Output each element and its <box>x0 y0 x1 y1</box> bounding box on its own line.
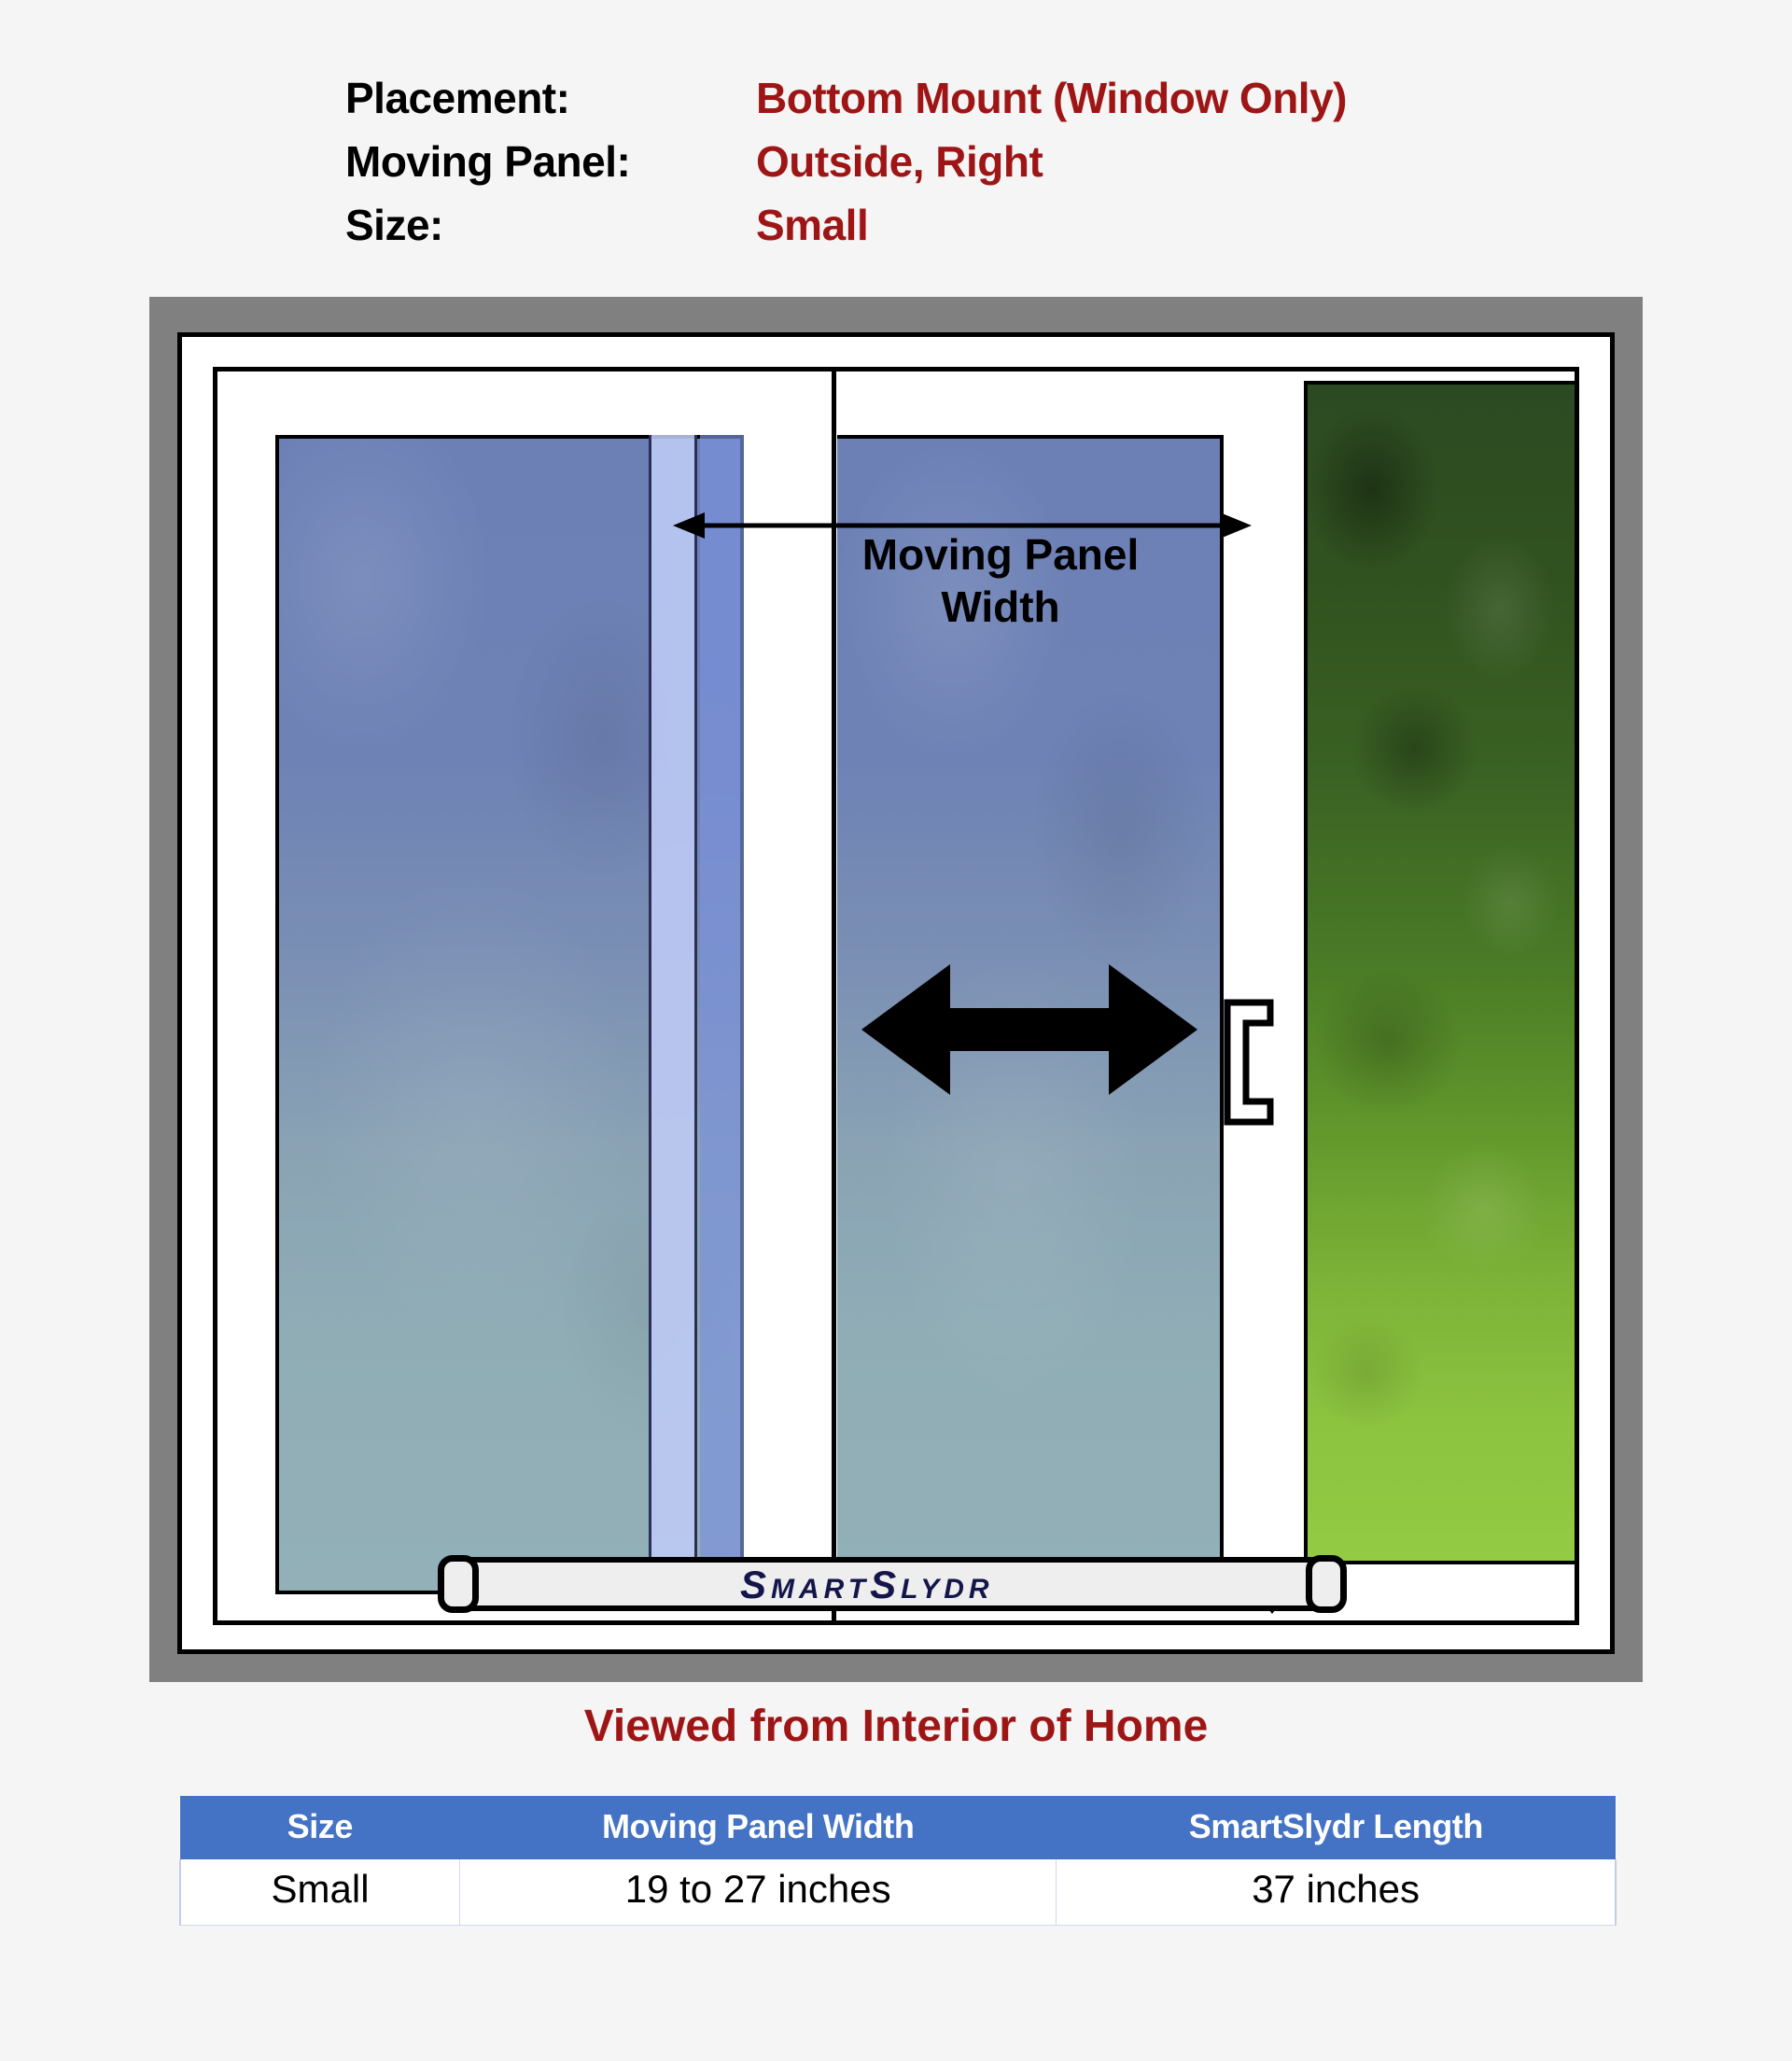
logo-s2: S <box>870 1563 901 1606</box>
cell-smartslydr-length: 37 inches <box>1057 1859 1616 1926</box>
spec-value-size: Small <box>756 200 868 250</box>
window-outer-frame: Moving Panel Width <box>177 332 1615 1654</box>
table-row: Small 19 to 27 inches 37 inches <box>180 1859 1616 1926</box>
moving-panel-right-stile <box>1224 372 1304 1620</box>
column-header-smartslydr-length: SmartSlydr Length <box>1057 1796 1616 1859</box>
door-handle-icon[interactable] <box>1222 997 1274 1128</box>
specification-summary: Placement: Bottom Mount (Window Only) Mo… <box>345 73 1652 263</box>
meeting-stile-edge <box>832 372 836 1620</box>
panel-overlap-stripe-light <box>649 435 697 1594</box>
column-header-moving-panel-width: Moving Panel Width <box>460 1796 1057 1859</box>
window-panes: Moving Panel Width <box>217 372 1575 1620</box>
sizing-table: Size Moving Panel Width SmartSlydr Lengt… <box>179 1796 1617 1926</box>
window-diagram: Moving Panel Width <box>149 297 1643 1682</box>
window-inner-frame: Moving Panel Width <box>213 367 1579 1625</box>
logo-lydr: LYDR <box>901 1574 993 1605</box>
spec-value-moving-panel: Outside, Right <box>756 136 1043 187</box>
slide-direction-arrow-icon <box>861 960 1197 1100</box>
panel-overlap-stripe-mid <box>700 435 744 1594</box>
smartslydr-end-cap-left <box>438 1555 479 1613</box>
diagram-caption: Viewed from Interior of Home <box>0 1701 1792 1752</box>
spec-row-size: Size: Small <box>345 200 1652 263</box>
outdoor-opening <box>1304 381 1575 1564</box>
logo-mart: MART <box>771 1574 870 1605</box>
cell-moving-panel-width: 19 to 27 inches <box>460 1859 1057 1926</box>
smartslydr-end-cap-right <box>1306 1555 1347 1613</box>
spec-label-size: Size: <box>345 200 756 250</box>
logo-s1: S <box>740 1563 771 1606</box>
spec-value-placement: Bottom Mount (Window Only) <box>756 73 1347 123</box>
smartslydr-logo: SMARTSLYDR <box>740 1563 994 1607</box>
meeting-stile <box>744 372 837 1620</box>
spec-row-placement: Placement: Bottom Mount (Window Only) <box>345 73 1652 136</box>
column-header-size: Size <box>180 1796 460 1859</box>
dimension-arrow-icon <box>673 510 1252 541</box>
cell-size: Small <box>180 1859 460 1926</box>
table-header-row: Size Moving Panel Width SmartSlydr Lengt… <box>180 1796 1616 1859</box>
spec-label-moving-panel: Moving Panel: <box>345 136 756 187</box>
spec-label-placement: Placement: <box>345 73 756 123</box>
spec-row-moving-panel: Moving Panel: Outside, Right <box>345 136 1652 200</box>
